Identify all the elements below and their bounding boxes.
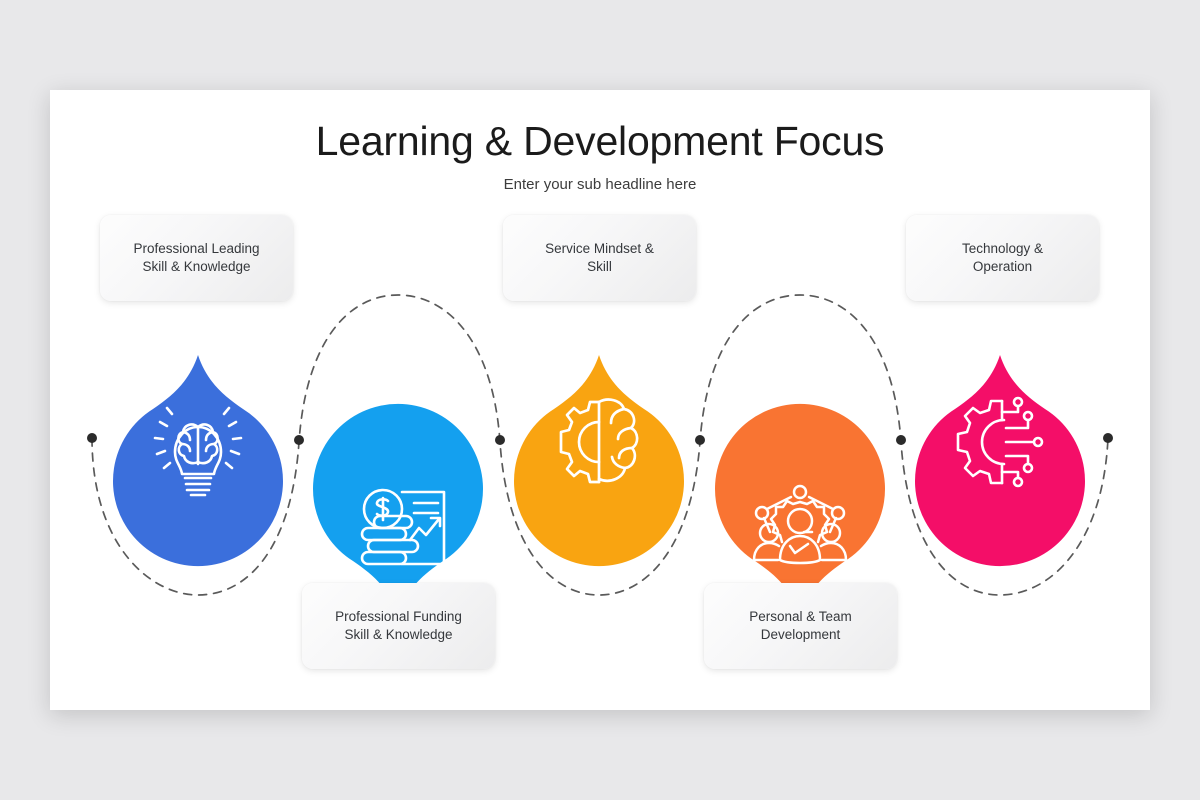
step-label-4-text: Personal & TeamDevelopment xyxy=(749,608,852,645)
step-node-5[interactable] xyxy=(915,355,1085,566)
step-node-1[interactable] xyxy=(113,355,283,566)
step-label-5[interactable]: Technology &Operation xyxy=(906,215,1099,301)
step-node-3[interactable] xyxy=(514,355,684,566)
step-label-1-text: Professional LeadingSkill & Knowledge xyxy=(133,240,259,277)
step-label-4[interactable]: Personal & TeamDevelopment xyxy=(704,583,897,669)
step-label-2[interactable]: Professional FundingSkill & Knowledge xyxy=(302,583,495,669)
step-label-3[interactable]: Service Mindset &Skill xyxy=(503,215,696,301)
step-label-1[interactable]: Professional LeadingSkill & Knowledge xyxy=(100,215,293,301)
step-label-3-text: Service Mindset &Skill xyxy=(545,240,654,277)
pin-shape-5 xyxy=(915,355,1085,566)
slide-card: Learning & Development Focus Enter your … xyxy=(50,90,1150,710)
diagram-canvas xyxy=(50,90,1150,710)
step-label-5-text: Technology &Operation xyxy=(962,240,1043,277)
step-label-2-text: Professional FundingSkill & Knowledge xyxy=(335,608,462,645)
